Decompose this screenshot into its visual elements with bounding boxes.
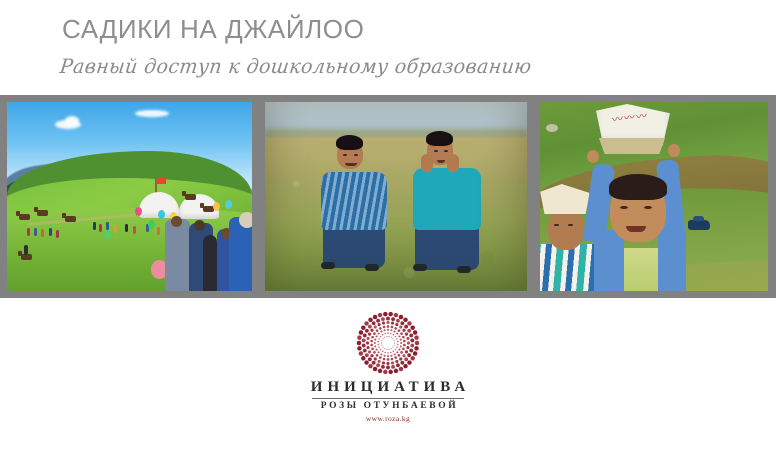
flag-icon xyxy=(155,178,157,193)
kalpak-ornament-icon: 〰〰 xyxy=(611,108,637,127)
photo-band: 〰〰 〰 xyxy=(0,95,776,298)
logo-divider xyxy=(312,398,464,399)
page-title: САДИКИ НА ДЖАЙЛОО xyxy=(62,14,364,45)
kalpak-ornament-icon: 〰 xyxy=(635,107,649,125)
page-subtitle: Равный доступ к дошкольному образованию xyxy=(59,56,533,79)
logo-block: ИНИЦИАТИВА РОЗЫ ОТУНБАЕВОЙ www.roza.kg xyxy=(0,310,776,423)
person xyxy=(93,222,96,230)
balloon xyxy=(135,207,142,216)
horse xyxy=(65,216,76,222)
rider xyxy=(24,245,28,255)
person xyxy=(56,230,59,238)
horse xyxy=(37,210,48,216)
person xyxy=(114,225,117,233)
hand xyxy=(587,150,599,163)
person xyxy=(125,224,128,232)
logo-website-url[interactable]: www.roza.kg xyxy=(0,414,776,423)
vignette xyxy=(265,102,527,291)
photo-1-scene xyxy=(7,102,252,291)
hand xyxy=(668,144,680,157)
eye xyxy=(554,224,559,226)
person xyxy=(203,235,217,291)
logo-organization-subname: РОЗЫ ОТУНБАЕВОЙ xyxy=(0,401,776,411)
balloon xyxy=(104,230,111,239)
person xyxy=(99,224,102,232)
photo-2-scene xyxy=(265,102,527,291)
person-head xyxy=(171,216,182,227)
boy-jacket-right xyxy=(658,226,686,291)
person xyxy=(41,229,44,237)
photo-boy-with-kalpak: 〰〰 〰 xyxy=(540,102,768,291)
balloon xyxy=(158,210,165,219)
horse xyxy=(19,214,30,220)
cloud xyxy=(65,116,79,125)
person-head xyxy=(194,220,205,231)
person xyxy=(157,227,160,235)
rock xyxy=(546,124,558,132)
balloon xyxy=(225,200,232,209)
horse xyxy=(185,194,196,200)
person xyxy=(27,228,30,236)
person xyxy=(49,228,52,236)
photo-two-boys-squatting xyxy=(265,102,527,291)
eye xyxy=(644,206,652,209)
person xyxy=(165,219,190,291)
boy-hair xyxy=(609,174,667,200)
boy-jacket-left xyxy=(594,230,624,291)
photo-3-scene: 〰〰 〰 xyxy=(540,102,768,291)
eye xyxy=(568,224,573,226)
person-head-with-hat xyxy=(239,212,252,228)
eye xyxy=(620,206,628,209)
logo-organization-name: ИНИЦИАТИВА xyxy=(0,380,776,396)
person xyxy=(34,228,37,236)
person xyxy=(106,222,109,230)
person xyxy=(133,226,136,234)
balloon xyxy=(148,220,155,229)
kalpak-brim xyxy=(596,138,668,154)
boy2-face xyxy=(548,208,584,250)
smile xyxy=(626,226,646,232)
header: САДИКИ НА ДЖАЙЛОО Равный доступ к дошкол… xyxy=(0,0,776,95)
car xyxy=(688,220,710,230)
photo-jailoo-pasture xyxy=(7,102,252,291)
cloud xyxy=(135,110,169,117)
balloon xyxy=(213,202,220,211)
person xyxy=(229,217,252,291)
mandala-dot-circle-logo xyxy=(342,310,434,376)
